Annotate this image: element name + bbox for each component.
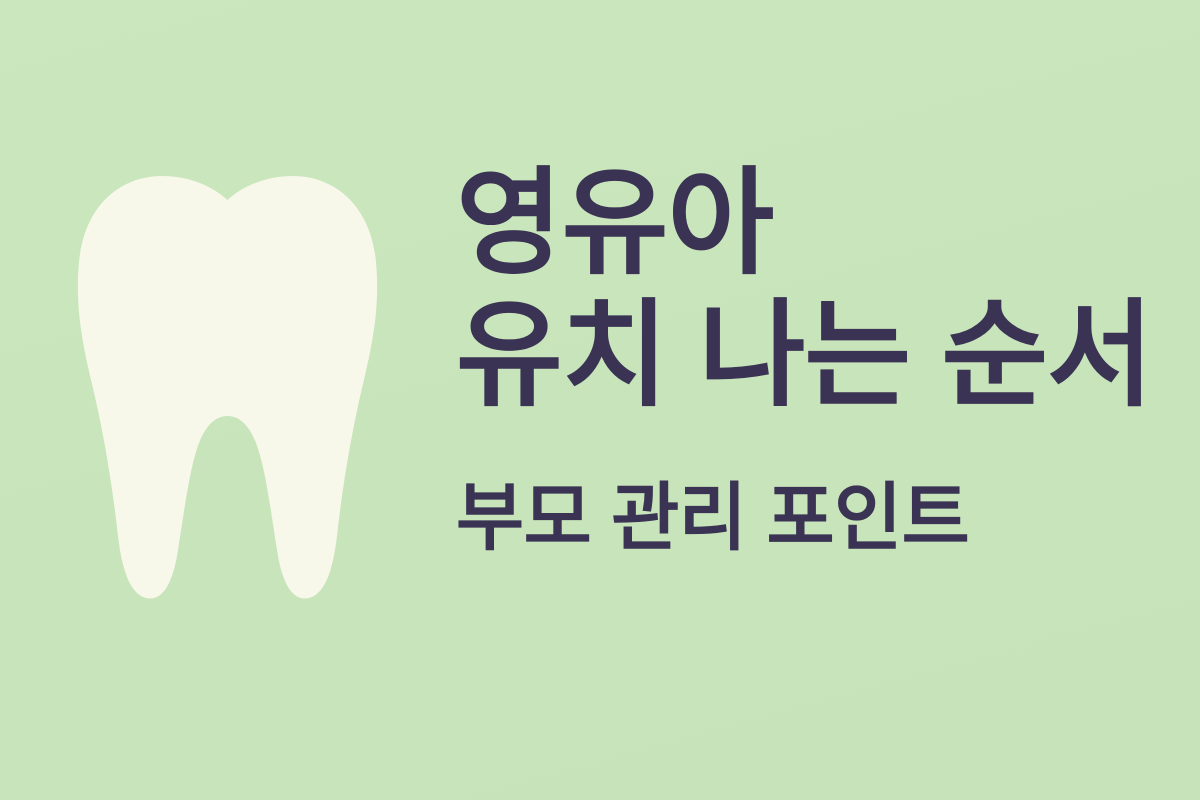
headline-line-2: 유치 나는 순서 bbox=[456, 290, 1156, 420]
subtitle: 부모 관리 포인트 bbox=[456, 420, 1156, 560]
text-block: 영유아 유치 나는 순서 부모 관리 포인트 bbox=[456, 158, 1156, 560]
tooth-illustration bbox=[70, 170, 385, 606]
tooth-icon bbox=[78, 176, 377, 599]
thumbnail-card: 영유아 유치 나는 순서 부모 관리 포인트 bbox=[0, 0, 1200, 800]
headline-line-1: 영유아 bbox=[456, 158, 1156, 288]
